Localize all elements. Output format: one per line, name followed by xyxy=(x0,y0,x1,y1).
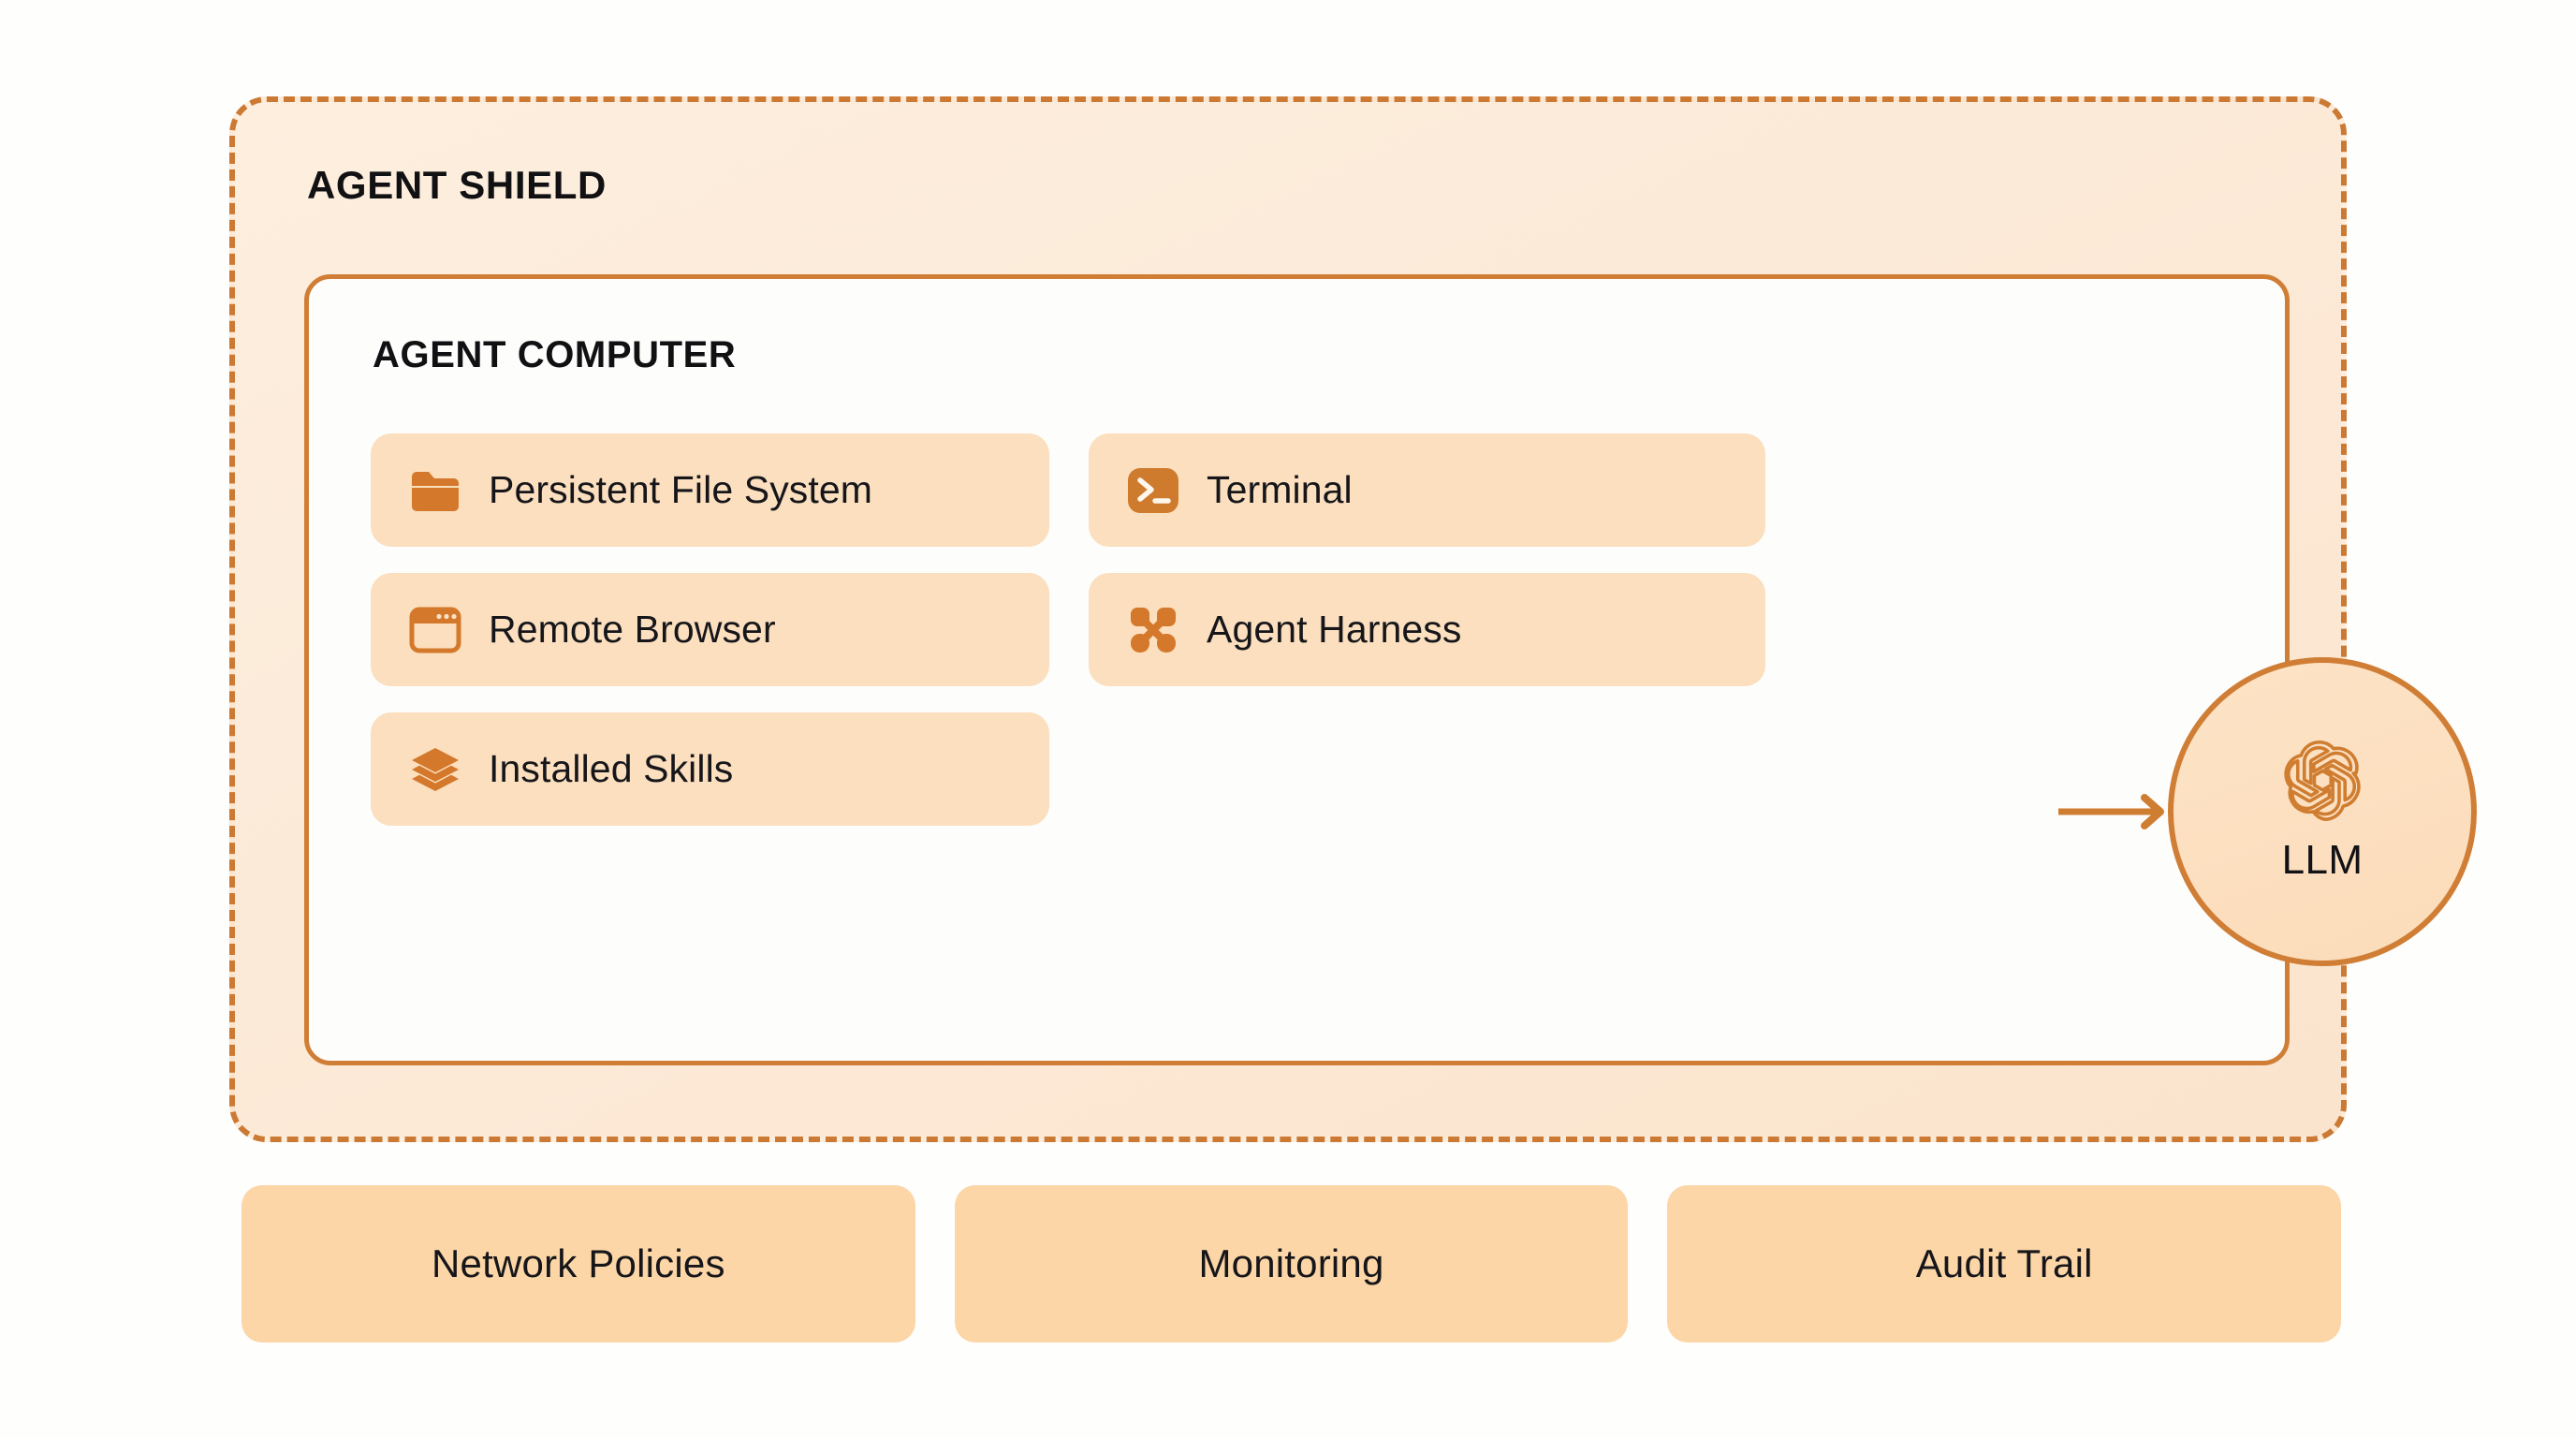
card-label: Installed Skills xyxy=(489,747,733,791)
card-row: Persistent File System Terminal xyxy=(371,433,1765,547)
agent-computer-panel: AGENT COMPUTER Persistent File System xyxy=(304,274,2290,1065)
card-persistent-file-system[interactable]: Persistent File System xyxy=(371,433,1049,547)
capability-card-grid: Persistent File System Terminal xyxy=(371,433,1765,852)
layers-icon xyxy=(406,741,464,799)
card-installed-skills[interactable]: Installed Skills xyxy=(371,712,1049,826)
card-remote-browser[interactable]: Remote Browser xyxy=(371,573,1049,686)
arrow-right-icon xyxy=(2058,790,2178,833)
card-row: Remote Browser xyxy=(371,573,1765,686)
card-label: Terminal xyxy=(1207,468,1353,512)
agent-computer-title: AGENT COMPUTER xyxy=(373,334,736,376)
pill-label: Network Policies xyxy=(432,1241,725,1286)
control-pill-row: Network Policies Monitoring Audit Trail xyxy=(241,1185,2341,1343)
pill-network-policies[interactable]: Network Policies xyxy=(241,1185,915,1343)
folder-icon xyxy=(406,462,464,520)
pill-label: Audit Trail xyxy=(1916,1241,2093,1286)
pill-label: Monitoring xyxy=(1198,1241,1383,1286)
card-row: Installed Skills xyxy=(371,712,1765,826)
llm-label: LLM xyxy=(2282,837,2364,884)
openai-knot-icon xyxy=(2281,740,2364,822)
pill-monitoring[interactable]: Monitoring xyxy=(955,1185,1629,1343)
card-label: Remote Browser xyxy=(489,608,776,652)
llm-node[interactable]: LLM xyxy=(2168,657,2477,966)
card-agent-harness[interactable]: Agent Harness xyxy=(1089,573,1765,686)
card-label: Agent Harness xyxy=(1207,608,1462,652)
card-terminal[interactable]: Terminal xyxy=(1089,433,1765,547)
agent-shield-container: AGENT SHIELD AGENT COMPUTER Persistent F… xyxy=(229,96,2347,1142)
pill-audit-trail[interactable]: Audit Trail xyxy=(1667,1185,2341,1343)
agent-shield-title: AGENT SHIELD xyxy=(307,163,607,208)
browser-window-icon xyxy=(406,601,464,659)
terminal-icon xyxy=(1124,462,1182,520)
card-label: Persistent File System xyxy=(489,468,872,512)
node-graph-icon xyxy=(1124,601,1182,659)
diagram-canvas: AGENT SHIELD AGENT COMPUTER Persistent F… xyxy=(0,0,2576,1438)
